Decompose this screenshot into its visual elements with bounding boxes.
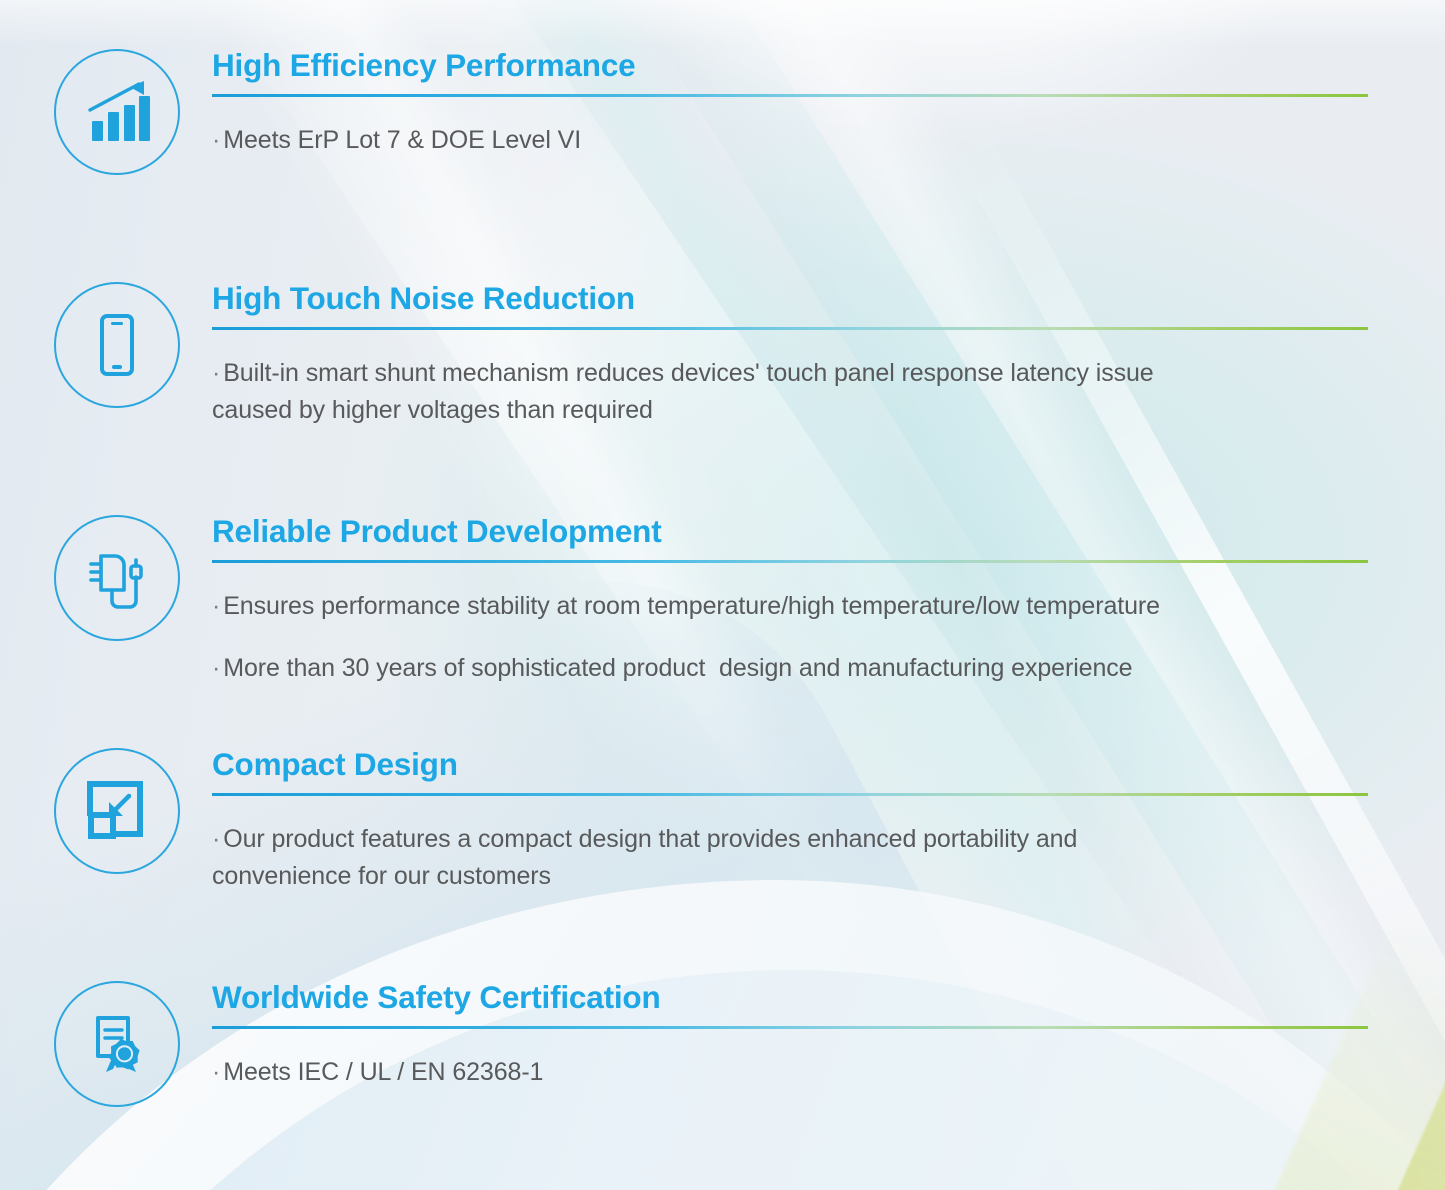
feature-icon-wrap xyxy=(54,748,180,874)
feature-bullets: ·Meets ErP Lot 7 & DOE Level VI xyxy=(212,122,1372,159)
bullet-marker: · xyxy=(212,359,220,387)
feature-divider xyxy=(212,793,1368,796)
bullet-marker: · xyxy=(212,592,220,620)
bullet-marker: · xyxy=(212,1058,220,1086)
power-adapter-icon xyxy=(54,515,180,641)
feature-bullet: ·Meets ErP Lot 7 & DOE Level VI xyxy=(212,122,1372,159)
feature-icon-wrap xyxy=(54,981,180,1107)
feature-divider xyxy=(212,327,1368,330)
feature-bullets: ·Ensures performance stability at room t… xyxy=(212,588,1372,687)
feature-divider xyxy=(212,94,1368,97)
feature-bullet: ·Meets IEC / UL / EN 62368-1 xyxy=(212,1054,1372,1091)
feature-icon-wrap xyxy=(54,49,180,175)
feature-title: High Efficiency Performance xyxy=(212,49,1372,82)
feature-divider xyxy=(212,1026,1368,1029)
feature-body: High Efficiency Performance ·Meets ErP L… xyxy=(212,49,1372,184)
bullet-text: Meets IEC / UL / EN 62368-1 xyxy=(223,1058,543,1086)
certificate-award-icon xyxy=(54,981,180,1107)
feature-title: Compact Design xyxy=(212,748,1372,781)
feature-bullet: ·Our product features a compact design t… xyxy=(212,821,1372,895)
bullet-text: More than 30 years of sophisticated prod… xyxy=(223,654,1132,682)
feature-icon-wrap xyxy=(54,515,180,641)
feature-list-page: High Efficiency Performance ·Meets ErP L… xyxy=(0,0,1445,1190)
feature-body: Reliable Product Development ·Ensures pe… xyxy=(212,515,1372,712)
compact-resize-icon xyxy=(54,748,180,874)
feature-bullets: ·Our product features a compact design t… xyxy=(212,821,1372,895)
bullet-marker: · xyxy=(212,126,220,154)
smartphone-icon xyxy=(54,282,180,408)
feature-bullet: ·Ensures performance stability at room t… xyxy=(212,588,1372,625)
feature-bullet: ·Built-in smart shunt mechanism reduces … xyxy=(212,355,1372,429)
feature-bullets: ·Built-in smart shunt mechanism reduces … xyxy=(212,355,1372,429)
bullet-text: Meets ErP Lot 7 & DOE Level VI xyxy=(223,126,581,154)
feature-divider xyxy=(212,560,1368,563)
bullet-marker: · xyxy=(212,654,220,682)
feature-title: Reliable Product Development xyxy=(212,515,1372,548)
bullet-marker: · xyxy=(212,825,220,853)
bullet-text: Our product features a compact design th… xyxy=(212,825,1077,890)
feature-body: High Touch Noise Reduction ·Built-in sma… xyxy=(212,282,1372,454)
feature-icon-wrap xyxy=(54,282,180,408)
feature-body: Worldwide Safety Certification ·Meets IE… xyxy=(212,981,1372,1116)
feature-bullet: ·More than 30 years of sophisticated pro… xyxy=(212,650,1372,687)
bar-chart-growth-icon xyxy=(54,49,180,175)
feature-body: Compact Design ·Our product features a c… xyxy=(212,748,1372,920)
feature-title: High Touch Noise Reduction xyxy=(212,282,1372,315)
feature-title: Worldwide Safety Certification xyxy=(212,981,1372,1014)
feature-bullets: ·Meets IEC / UL / EN 62368-1 xyxy=(212,1054,1372,1091)
bullet-text: Built-in smart shunt mechanism reduces d… xyxy=(212,359,1154,424)
bullet-text: Ensures performance stability at room te… xyxy=(223,592,1160,620)
background-top-strip xyxy=(0,0,1445,46)
